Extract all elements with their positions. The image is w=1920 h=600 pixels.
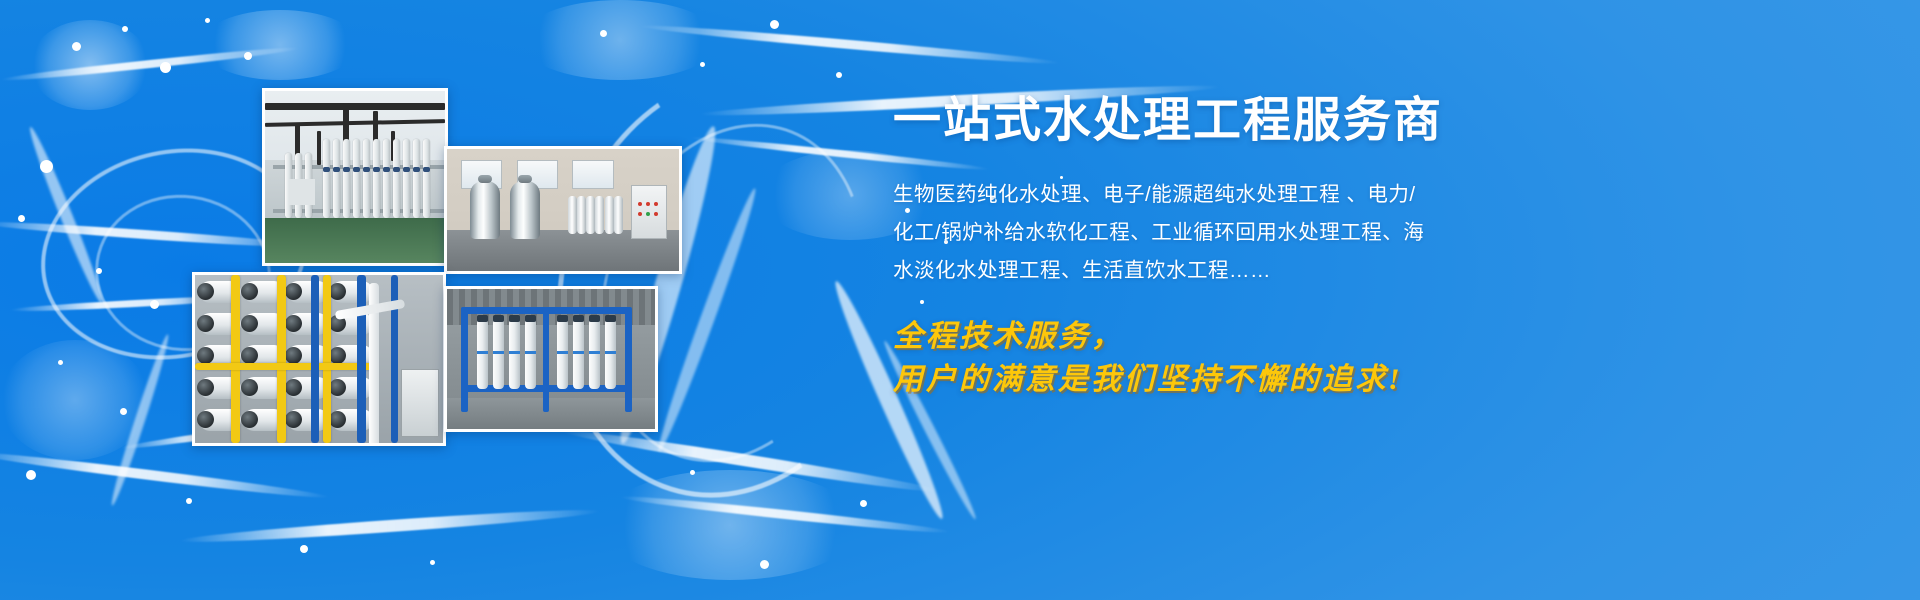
water-treatment-banner: 一站式水处理工程服务商 生物医药纯化水处理、电子/能源超纯水处理工程 、电力/ …	[0, 0, 1920, 600]
photo-stainless-steel-tanks	[444, 146, 682, 274]
description-line: 生物医药纯化水处理、电子/能源超纯水处理工程 、电力/	[893, 176, 1465, 214]
photo-blue-frame-uf-skid	[444, 286, 658, 432]
page-title: 一站式水处理工程服务商	[893, 96, 1493, 146]
water-droplet	[836, 72, 842, 78]
company-slogan: 全程技术服务， 用户的满意是我们坚持不懈的追求!	[893, 316, 1493, 401]
photo-collage	[0, 0, 720, 600]
banner-copy: 一站式水处理工程服务商 生物医药纯化水处理、电子/能源超纯水处理工程 、电力/ …	[893, 96, 1493, 401]
water-droplet	[860, 500, 867, 507]
water-droplet	[770, 20, 779, 29]
slogan-line: 用户的满意是我们坚持不懈的追求!	[893, 359, 1493, 402]
photo-reverse-osmosis-racks	[192, 272, 446, 446]
photo-ultrafiltration-membrane-hall	[262, 88, 448, 266]
slogan-line: 全程技术服务，	[893, 316, 1493, 359]
description-line: 化工/锅炉补给水软化工程、工业循环回用水处理工程、海	[893, 214, 1465, 252]
description-line: 水淡化水处理工程、生活直饮水工程……	[893, 252, 1465, 290]
service-description: 生物医药纯化水处理、电子/能源超纯水处理工程 、电力/ 化工/锅炉补给水软化工程…	[893, 176, 1465, 290]
water-droplet	[760, 560, 769, 569]
